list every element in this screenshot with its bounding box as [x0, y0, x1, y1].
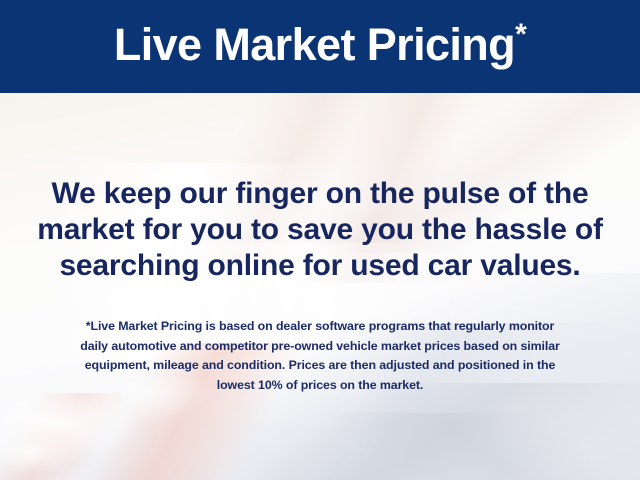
page-title-asterisk: *	[515, 18, 526, 51]
live-market-pricing-card: Live Market Pricing* We keep our finger …	[0, 0, 640, 480]
content-area: We keep our finger on the pulse of the m…	[0, 93, 640, 480]
disclaimer-footnote: *Live Market Pricing is based on dealer …	[30, 317, 610, 395]
disclaimer-line-4: lowest 10% of prices on the market.	[30, 376, 610, 396]
disclaimer-line-1: *Live Market Pricing is based on dealer …	[30, 317, 610, 337]
disclaimer-line-3: equipment, mileage and condition. Prices…	[30, 356, 610, 376]
page-title-text: Live Market Pricing	[114, 19, 515, 70]
header-banner: Live Market Pricing*	[0, 0, 640, 93]
headline-line-1: We keep our finger on the pulse of the	[20, 176, 620, 212]
headline: We keep our finger on the pulse of the m…	[20, 176, 620, 284]
headline-line-2: market for you to save you the hassle of	[20, 212, 620, 248]
headline-line-3: searching online for used car values.	[20, 248, 620, 284]
page-title: Live Market Pricing*	[114, 22, 526, 71]
disclaimer-line-2: daily automotive and competitor pre-owne…	[30, 337, 610, 357]
